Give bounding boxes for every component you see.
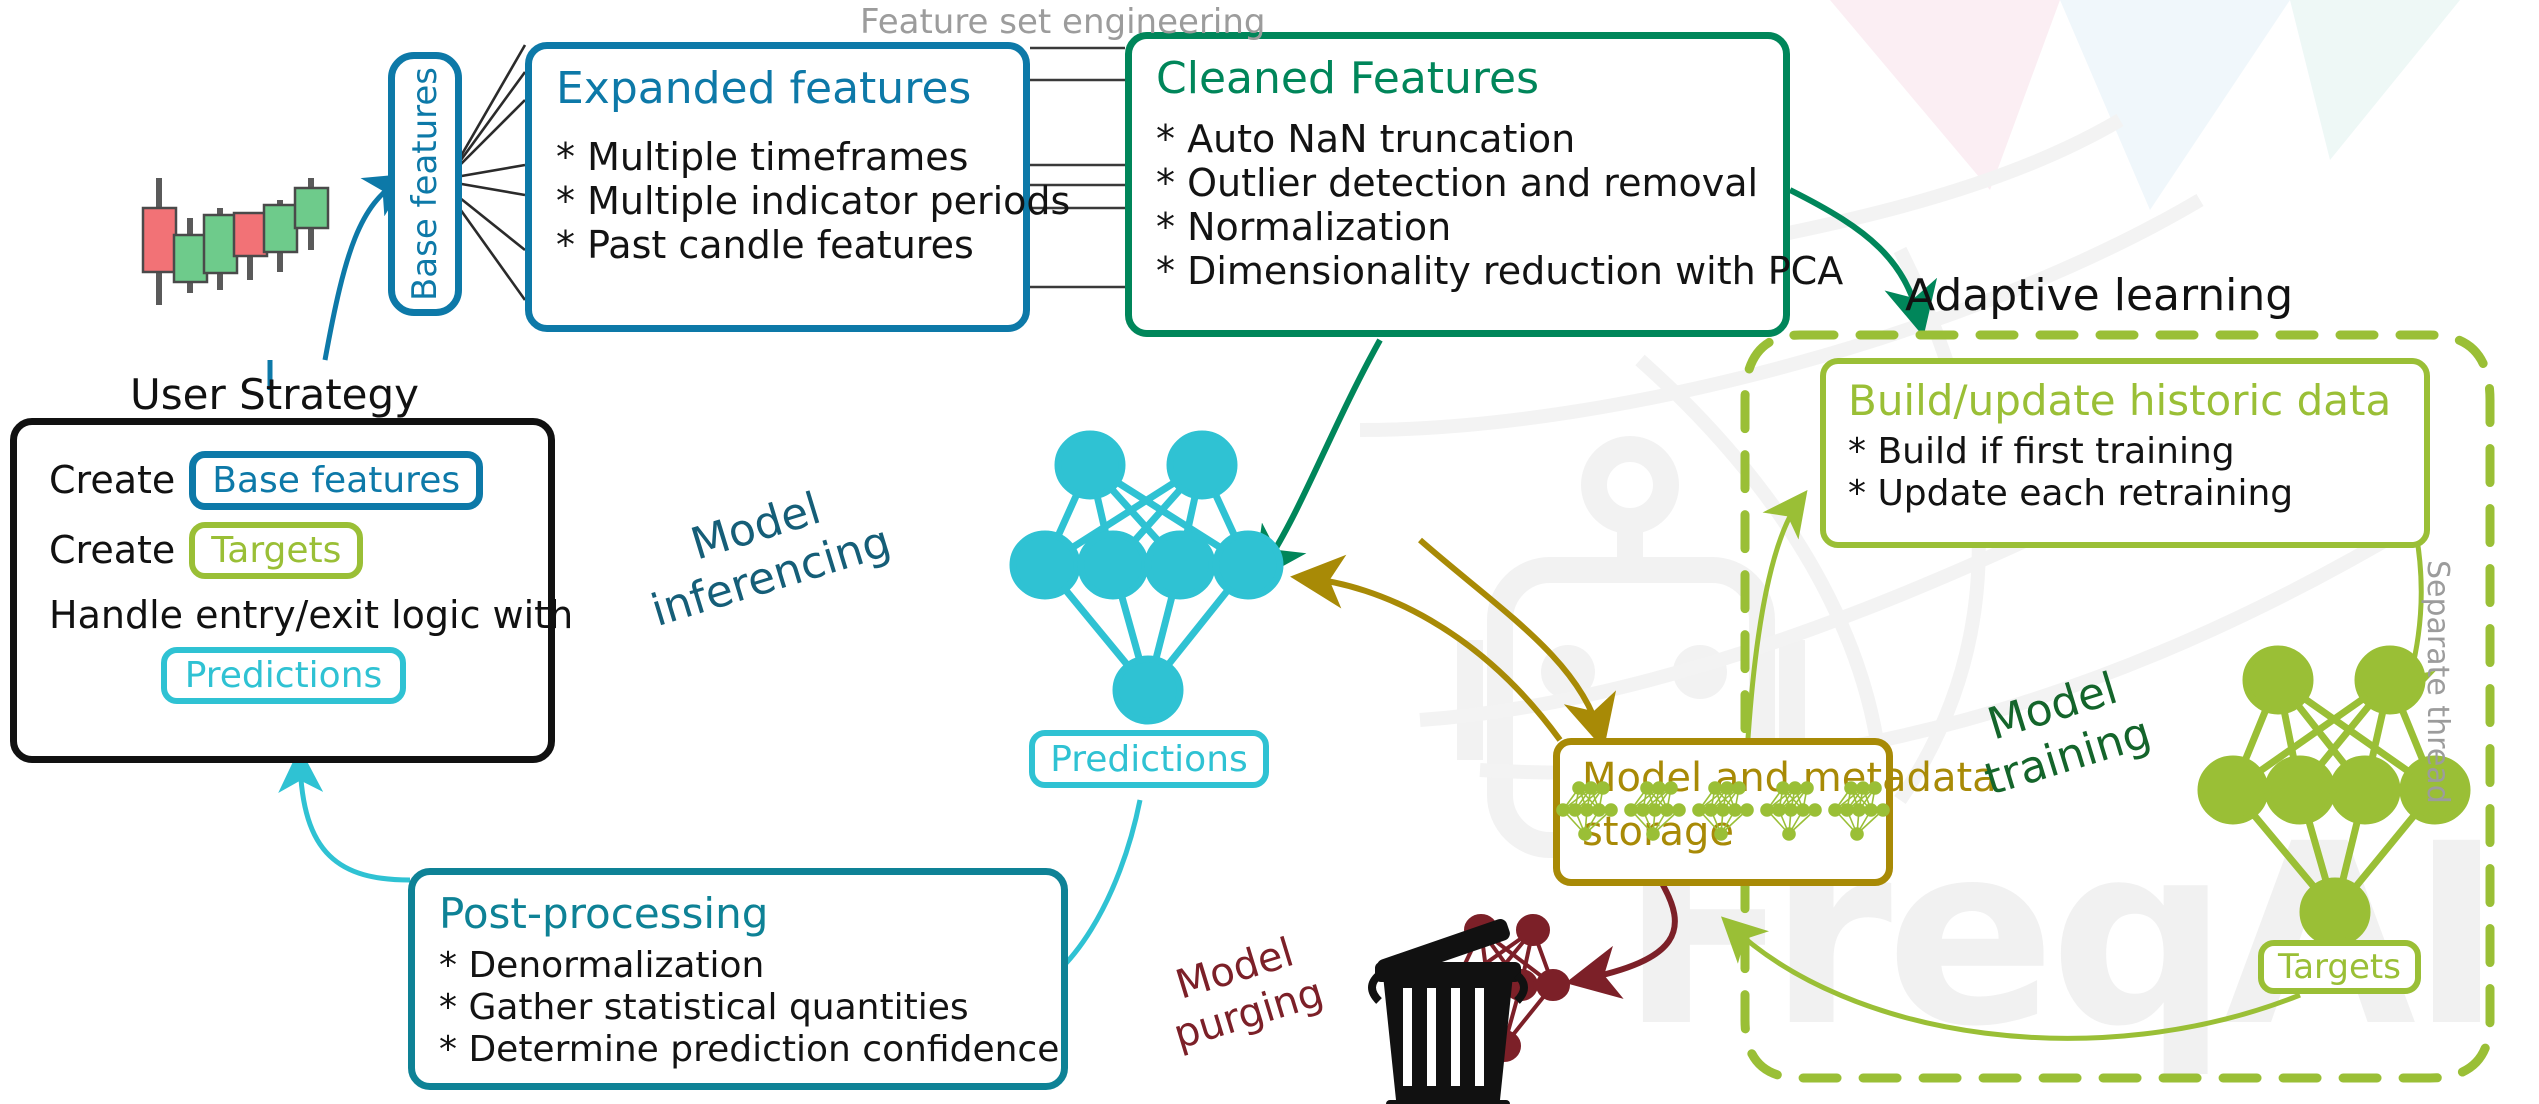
targets-pill[interactable]: Targets	[2258, 940, 2421, 994]
separate-thread-label: Separate thread	[2455, 560, 2539, 595]
user-strategy-label: User Strategy	[130, 370, 419, 419]
predictions-pill[interactable]: Predictions	[1029, 730, 1269, 788]
diagram-canvas: FreqAI	[0, 0, 2539, 1104]
inference-network	[1013, 434, 1280, 721]
stored-models	[1557, 782, 1889, 840]
adaptive-learning-label: Adaptive learning	[1905, 270, 2293, 321]
candlestick-chart	[143, 178, 328, 305]
feature-set-engineering-label: Feature set engineering	[860, 2, 1266, 42]
